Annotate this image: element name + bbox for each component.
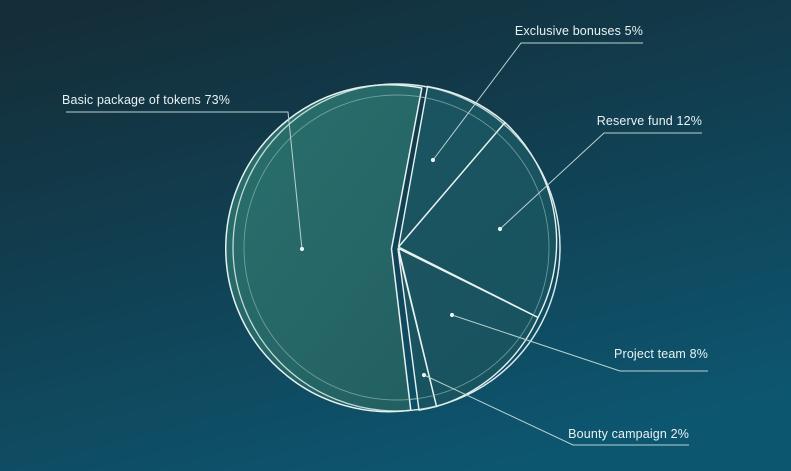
pie-chart-canvas: Basic package of tokens 73% Exclusive bo… xyxy=(0,0,791,471)
leader-dot-bounty-campaign xyxy=(422,373,426,377)
leader-dot-basic-package xyxy=(300,247,304,251)
label-reserve-fund: Reserve fund 12% xyxy=(597,114,702,128)
pie-chart-figure: Basic package of tokens 73% Exclusive bo… xyxy=(0,0,791,471)
leader-dot-reserve-fund xyxy=(498,227,502,231)
label-project-team: Project team 8% xyxy=(614,347,708,361)
label-bounty-campaign: Bounty campaign 2% xyxy=(568,427,689,441)
label-basic-package: Basic package of tokens 73% xyxy=(62,93,230,107)
leader-dot-exclusive-bonuses xyxy=(431,158,435,162)
label-exclusive-bonuses: Exclusive bonuses 5% xyxy=(515,24,643,38)
leader-dot-project-team xyxy=(450,313,454,317)
